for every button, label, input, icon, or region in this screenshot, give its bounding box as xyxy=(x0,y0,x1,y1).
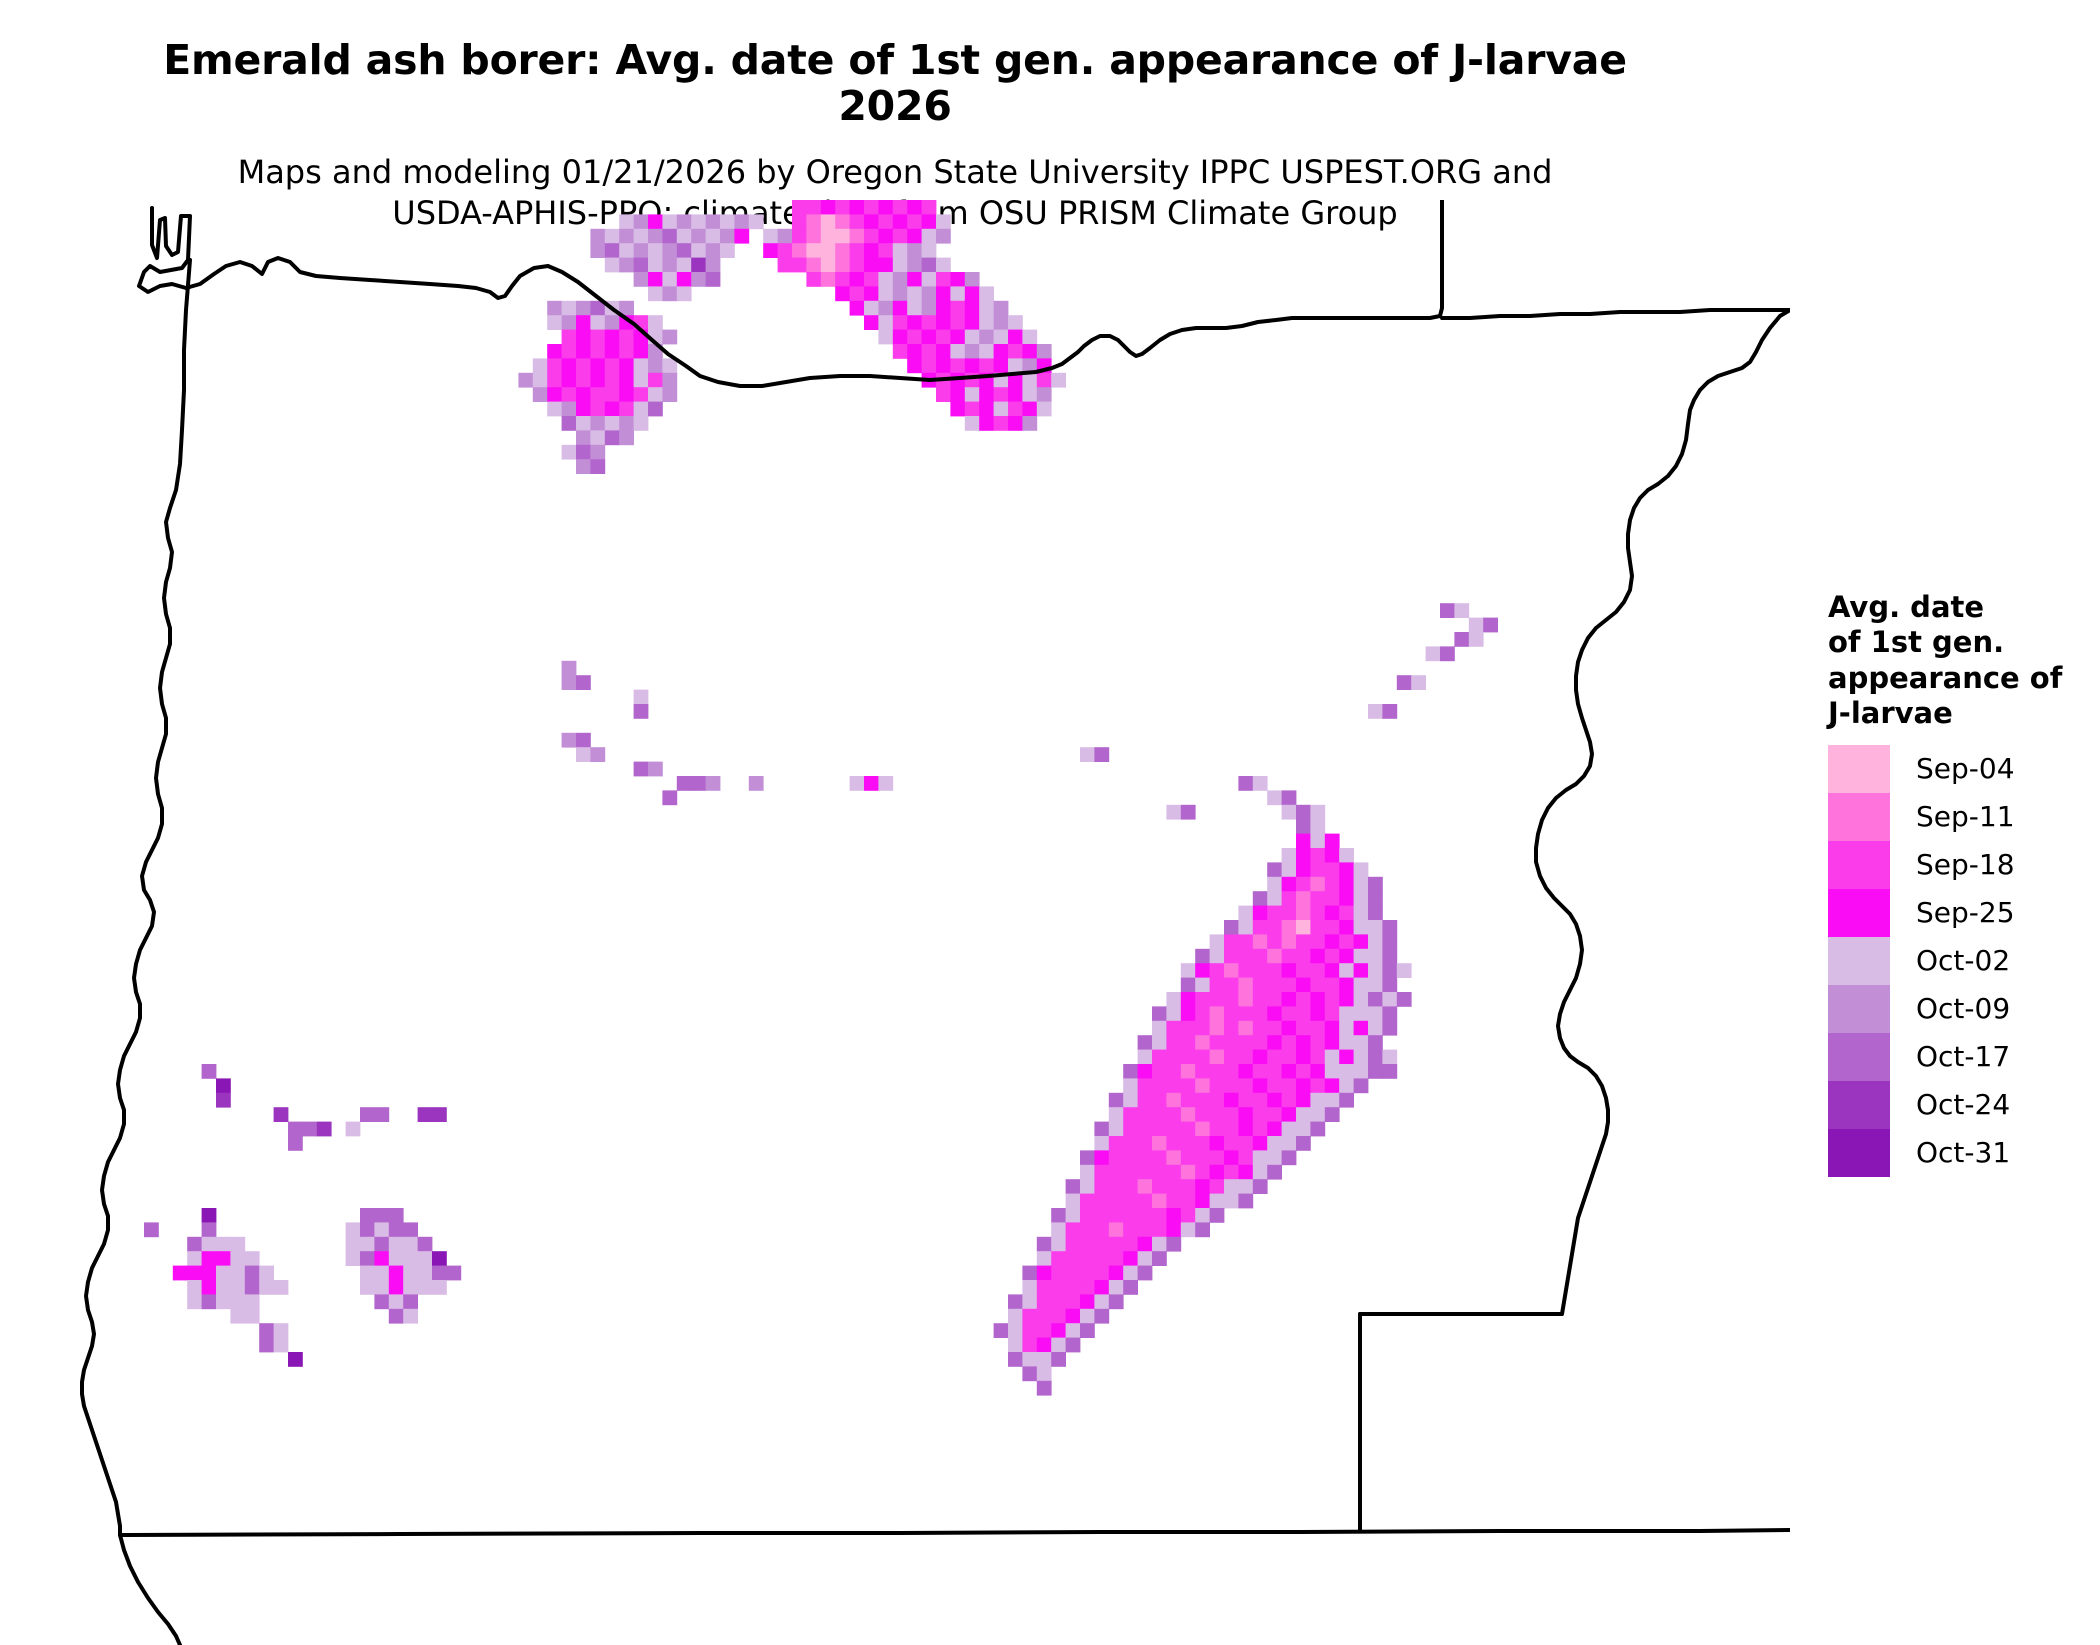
raster-cell xyxy=(1080,1323,1095,1338)
raster-cell xyxy=(1094,747,1109,762)
raster-cell xyxy=(1296,1050,1311,1065)
raster-cell xyxy=(922,286,937,301)
raster-cell xyxy=(1152,1093,1167,1108)
raster-cell xyxy=(1253,1136,1268,1151)
raster-cell xyxy=(1325,877,1340,892)
raster-cell xyxy=(1238,1165,1253,1180)
raster-cell xyxy=(1282,978,1297,993)
raster-cell xyxy=(216,1078,231,1093)
raster-cell xyxy=(1195,1107,1210,1122)
raster-cell xyxy=(677,258,692,273)
raster-cell xyxy=(1181,978,1196,993)
raster-cell xyxy=(1138,1251,1153,1266)
raster-cell xyxy=(1080,1222,1095,1237)
raster-cell xyxy=(1066,1179,1081,1194)
raster-cell xyxy=(562,445,577,460)
raster-cell xyxy=(1296,805,1311,820)
raster-cell xyxy=(950,315,965,330)
raster-cell xyxy=(1123,1064,1138,1079)
raster-cell xyxy=(850,229,865,244)
raster-cell xyxy=(533,387,548,402)
raster-cell xyxy=(1195,1150,1210,1165)
raster-cell xyxy=(1080,1237,1095,1252)
raster-cell xyxy=(1138,1122,1153,1137)
raster-cell xyxy=(1152,1251,1167,1266)
raster-cell xyxy=(1181,1093,1196,1108)
raster-cell xyxy=(1094,1122,1109,1137)
raster-cell xyxy=(691,214,706,229)
raster-cell xyxy=(1094,1294,1109,1309)
raster-cell xyxy=(245,1294,260,1309)
raster-cell xyxy=(1123,1208,1138,1223)
raster-cell xyxy=(763,243,778,258)
raster-cell xyxy=(619,344,634,359)
raster-cell xyxy=(864,286,879,301)
raster-cell xyxy=(1325,891,1340,906)
raster-cell xyxy=(1224,978,1239,993)
raster-cell xyxy=(835,258,850,273)
raster-cell xyxy=(965,286,980,301)
raster-cell xyxy=(1152,1122,1167,1137)
raster-cell xyxy=(1181,1122,1196,1137)
raster-cell xyxy=(1368,1021,1383,1036)
raster-cell xyxy=(1195,992,1210,1007)
raster-cell xyxy=(187,1251,202,1266)
raster-cell xyxy=(662,258,677,273)
raster-cell xyxy=(792,214,807,229)
raster-cell xyxy=(590,344,605,359)
raster-cell xyxy=(1166,1078,1181,1093)
raster-cell xyxy=(1354,1021,1369,1036)
raster-cell xyxy=(1282,877,1297,892)
raster-cell xyxy=(418,1237,433,1252)
map-canvas[interactable] xyxy=(0,200,1790,1645)
raster-cell xyxy=(1152,1179,1167,1194)
raster-cell xyxy=(950,330,965,345)
raster-cell xyxy=(562,661,577,676)
raster-cell xyxy=(1253,1165,1268,1180)
raster-cell xyxy=(1325,934,1340,949)
raster-cell xyxy=(173,1266,188,1281)
raster-cell xyxy=(1037,1381,1052,1396)
raster-cell xyxy=(835,214,850,229)
raster-cell xyxy=(403,1309,418,1324)
raster-cell xyxy=(648,315,663,330)
raster-cell xyxy=(994,358,1009,373)
raster-cell xyxy=(677,272,692,287)
raster-cell xyxy=(1325,906,1340,921)
raster-cell xyxy=(936,315,951,330)
raster-cell xyxy=(907,200,922,215)
raster-cell xyxy=(1296,1136,1311,1151)
raster-cell xyxy=(590,330,605,345)
raster-cell xyxy=(936,272,951,287)
raster-cell xyxy=(1382,920,1397,935)
raster-cell xyxy=(360,1222,375,1237)
raster-cell xyxy=(1282,1021,1297,1036)
raster-cell xyxy=(634,416,649,431)
raster-cell xyxy=(547,387,562,402)
raster-cell xyxy=(1181,1107,1196,1122)
raster-cell xyxy=(1310,934,1325,949)
raster-cell xyxy=(662,286,677,301)
raster-cell xyxy=(1166,1050,1181,1065)
raster-cell xyxy=(605,358,620,373)
raster-cell xyxy=(1253,891,1268,906)
raster-cell xyxy=(1166,1006,1181,1021)
raster-cell xyxy=(1109,1194,1124,1209)
raster-cell xyxy=(1008,1352,1023,1367)
raster-cell xyxy=(1238,978,1253,993)
raster-cell xyxy=(1267,1050,1282,1065)
raster-cell xyxy=(1080,1266,1095,1281)
raster-cell xyxy=(619,229,634,244)
raster-cell xyxy=(1238,1122,1253,1137)
raster-cell xyxy=(1166,1093,1181,1108)
raster-cell xyxy=(979,387,994,402)
raster-cell xyxy=(202,1280,217,1295)
legend-color-swatch xyxy=(1828,1081,1890,1129)
raster-cell xyxy=(1210,1050,1225,1065)
raster-cell xyxy=(893,344,908,359)
raster-cell xyxy=(1282,963,1297,978)
raster-cell xyxy=(1382,978,1397,993)
raster-cell xyxy=(1080,1179,1095,1194)
raster-cell xyxy=(1310,978,1325,993)
raster-cell xyxy=(619,402,634,417)
map-svg[interactable] xyxy=(0,200,1790,1645)
raster-cell xyxy=(878,776,893,791)
raster-cell xyxy=(1094,1251,1109,1266)
raster-cell xyxy=(1368,934,1383,949)
raster-cell xyxy=(1138,1050,1153,1065)
raster-cell xyxy=(1123,1222,1138,1237)
raster-cell xyxy=(1008,1323,1023,1338)
raster-cell xyxy=(1296,963,1311,978)
raster-cell xyxy=(1382,949,1397,964)
raster-cell xyxy=(1397,992,1412,1007)
raster-cell xyxy=(360,1107,375,1122)
raster-cell xyxy=(965,301,980,316)
raster-cell xyxy=(1195,963,1210,978)
raster-cell xyxy=(216,1237,231,1252)
raster-cell xyxy=(850,200,865,215)
raster-cell xyxy=(1152,1136,1167,1151)
washington-border-path xyxy=(1442,310,1790,318)
raster-cell xyxy=(1166,1064,1181,1079)
raster-cell xyxy=(1238,906,1253,921)
raster-cell xyxy=(202,1237,217,1252)
raster-cell xyxy=(1195,1050,1210,1065)
raster-cell xyxy=(274,1107,289,1122)
raster-cell xyxy=(792,229,807,244)
legend-entry: Sep-11 xyxy=(1790,793,2100,841)
raster-cell xyxy=(648,214,663,229)
raster-cell xyxy=(1138,1107,1153,1122)
raster-cell xyxy=(1051,1237,1066,1252)
raster-cell xyxy=(936,344,951,359)
raster-cell xyxy=(1138,1078,1153,1093)
raster-cell xyxy=(619,373,634,388)
raster-cell xyxy=(1051,1338,1066,1353)
raster-cell xyxy=(389,1208,404,1223)
raster-cell xyxy=(792,200,807,215)
raster-cell xyxy=(907,286,922,301)
raster-cell xyxy=(576,430,591,445)
legend-label: Sep-04 xyxy=(1890,745,2015,793)
raster-cell xyxy=(691,776,706,791)
raster-cell xyxy=(907,358,922,373)
raster-cell xyxy=(835,243,850,258)
raster-cell xyxy=(677,776,692,791)
raster-cell xyxy=(1296,1006,1311,1021)
raster-cell xyxy=(1339,1078,1354,1093)
raster-cell xyxy=(734,229,749,244)
raster-cell xyxy=(1267,877,1282,892)
raster-cell xyxy=(936,330,951,345)
raster-cell xyxy=(907,214,922,229)
raster-cell xyxy=(1296,906,1311,921)
raster-cell xyxy=(202,1294,217,1309)
raster-cell xyxy=(360,1280,375,1295)
raster-cell xyxy=(1022,387,1037,402)
raster-cell xyxy=(1253,1050,1268,1065)
raster-cell xyxy=(1253,1006,1268,1021)
page-title: Emerald ash borer: Avg. date of 1st gen.… xyxy=(0,38,1790,130)
raster-cell xyxy=(965,402,980,417)
raster-cell xyxy=(1152,1194,1167,1209)
raster-cell xyxy=(878,258,893,273)
raster-cell xyxy=(230,1266,245,1281)
raster-cell xyxy=(1138,1222,1153,1237)
raster-cell xyxy=(1152,1078,1167,1093)
raster-cell xyxy=(619,416,634,431)
raster-cell xyxy=(576,747,591,762)
raster-cell xyxy=(432,1107,447,1122)
raster-cell xyxy=(850,243,865,258)
raster-cell xyxy=(1253,1093,1268,1108)
raster-cell xyxy=(1354,963,1369,978)
raster-cell xyxy=(950,387,965,402)
raster-cell xyxy=(590,373,605,388)
raster-cell xyxy=(1296,819,1311,834)
legend-label: Sep-11 xyxy=(1890,793,2015,841)
raster-cell xyxy=(576,330,591,345)
raster-cell xyxy=(1411,675,1426,690)
raster-cell xyxy=(1238,1078,1253,1093)
raster-cell xyxy=(1066,1309,1081,1324)
raster-cell xyxy=(619,430,634,445)
raster-cell xyxy=(634,387,649,402)
raster-cell xyxy=(720,229,735,244)
raster-cell xyxy=(576,373,591,388)
raster-cell xyxy=(1123,1136,1138,1151)
raster-cell xyxy=(878,330,893,345)
raster-cell xyxy=(1238,1064,1253,1079)
raster-cell xyxy=(662,387,677,402)
raster-cell xyxy=(965,358,980,373)
raster-cell xyxy=(1483,618,1498,633)
raster-cell xyxy=(1195,1165,1210,1180)
raster-cell xyxy=(1022,1352,1037,1367)
raster-cell xyxy=(1282,1064,1297,1079)
legend-entry: Sep-18 xyxy=(1790,841,2100,889)
raster-cell xyxy=(1181,963,1196,978)
raster-cell xyxy=(994,301,1009,316)
raster-cell xyxy=(259,1280,274,1295)
raster-cell xyxy=(648,387,663,402)
raster-cell xyxy=(979,402,994,417)
legend-color-swatch xyxy=(1828,937,1890,985)
raster-cell xyxy=(1166,1107,1181,1122)
raster-cell xyxy=(590,459,605,474)
raster-cell xyxy=(677,243,692,258)
raster-cell xyxy=(1267,1035,1282,1050)
raster-cell xyxy=(418,1266,433,1281)
legend: Avg. date of 1st gen. appearance of J-la… xyxy=(1790,590,2100,1177)
raster-cell xyxy=(677,286,692,301)
raster-cell xyxy=(1051,1280,1066,1295)
raster-cell xyxy=(1195,1194,1210,1209)
raster-cell xyxy=(1267,1064,1282,1079)
raster-cell xyxy=(1310,906,1325,921)
raster-cell xyxy=(634,272,649,287)
raster-cell xyxy=(1382,934,1397,949)
raster-cell xyxy=(1382,992,1397,1007)
raster-cell xyxy=(1051,373,1066,388)
raster-cell xyxy=(1325,1035,1340,1050)
raster-cell xyxy=(1210,1078,1225,1093)
raster-cell xyxy=(1094,1194,1109,1209)
raster-cell xyxy=(1181,1021,1196,1036)
raster-cell xyxy=(850,776,865,791)
raster-cell xyxy=(835,272,850,287)
raster-cell xyxy=(878,229,893,244)
pacific-coast-path xyxy=(82,260,190,1535)
raster-cell xyxy=(1339,920,1354,935)
raster-cell xyxy=(1325,1093,1340,1108)
raster-cell xyxy=(864,200,879,215)
raster-cell xyxy=(1354,1064,1369,1079)
raster-cell xyxy=(1094,1165,1109,1180)
raster-cell xyxy=(576,416,591,431)
raster-cell xyxy=(864,301,879,316)
raster-cell xyxy=(576,459,591,474)
lower-coast-path xyxy=(120,1535,180,1645)
raster-cell xyxy=(634,214,649,229)
raster-cell xyxy=(1253,776,1268,791)
raster-cell xyxy=(562,402,577,417)
raster-cell xyxy=(648,373,663,388)
raster-cell xyxy=(907,272,922,287)
raster-cell xyxy=(893,315,908,330)
raster-cell xyxy=(1382,1006,1397,1021)
raster-cell xyxy=(1325,1107,1340,1122)
raster-cell xyxy=(547,358,562,373)
raster-cell xyxy=(1267,1006,1282,1021)
raster-cell xyxy=(605,330,620,345)
raster-cell xyxy=(1368,978,1383,993)
raster-cell xyxy=(1296,834,1311,849)
raster-cell xyxy=(317,1122,332,1137)
raster-cell xyxy=(1397,675,1412,690)
raster-cell xyxy=(1037,1251,1052,1266)
raster-cell xyxy=(360,1237,375,1252)
raster-cell xyxy=(389,1309,404,1324)
raster-cell xyxy=(547,344,562,359)
raster-cell xyxy=(1310,891,1325,906)
raster-cell xyxy=(1037,1309,1052,1324)
raster-cell xyxy=(720,214,735,229)
map-page: Emerald ash borer: Avg. date of 1st gen.… xyxy=(0,0,2100,1645)
raster-cell xyxy=(979,416,994,431)
raster-cell xyxy=(1368,920,1383,935)
raster-cell xyxy=(936,286,951,301)
raster-cell xyxy=(1123,1150,1138,1165)
raster-cell xyxy=(1022,416,1037,431)
raster-cell xyxy=(1310,1006,1325,1021)
legend-color-swatch xyxy=(1828,793,1890,841)
raster-cell xyxy=(619,214,634,229)
raster-cell xyxy=(893,272,908,287)
raster-cell xyxy=(432,1266,447,1281)
raster-cell xyxy=(1022,1280,1037,1295)
raster-cell xyxy=(1195,1136,1210,1151)
raster-cell xyxy=(1181,1222,1196,1237)
raster-cell xyxy=(1253,1035,1268,1050)
raster-cell xyxy=(1094,1179,1109,1194)
raster-cell xyxy=(662,373,677,388)
raster-cell xyxy=(346,1251,361,1266)
raster-cell xyxy=(706,776,721,791)
raster-cell xyxy=(1325,1050,1340,1065)
raster-cell xyxy=(1210,934,1225,949)
raster-cell xyxy=(1310,963,1325,978)
raster-cell xyxy=(1066,1323,1081,1338)
raster-cell xyxy=(878,315,893,330)
raster-cell xyxy=(864,315,879,330)
raster-cell xyxy=(1094,1222,1109,1237)
raster-cell xyxy=(1382,1064,1397,1079)
raster-cell xyxy=(1195,1122,1210,1137)
raster-cell xyxy=(1051,1251,1066,1266)
raster-cell xyxy=(706,243,721,258)
raster-cell xyxy=(1022,330,1037,345)
raster-cell xyxy=(893,214,908,229)
raster-cell xyxy=(1008,344,1023,359)
legend-label: Oct-31 xyxy=(1890,1129,2010,1177)
raster-cell xyxy=(1166,1165,1181,1180)
raster-cell xyxy=(950,344,965,359)
raster-cell xyxy=(749,776,764,791)
raster-cell xyxy=(216,1280,231,1295)
raster-cell xyxy=(1051,1323,1066,1338)
raster-cell xyxy=(562,358,577,373)
raster-cell xyxy=(1354,1050,1369,1065)
raster-cell xyxy=(691,229,706,244)
raster-cell xyxy=(648,272,663,287)
raster-cell xyxy=(403,1294,418,1309)
raster-cell xyxy=(187,1294,202,1309)
raster-cell xyxy=(1267,992,1282,1007)
raster-cell xyxy=(691,243,706,258)
raster-cell xyxy=(1224,1050,1239,1065)
raster-cell xyxy=(1296,1093,1311,1108)
raster-cell xyxy=(1224,963,1239,978)
legend-entry: Oct-09 xyxy=(1790,985,2100,1033)
raster-cell xyxy=(979,344,994,359)
raster-cell xyxy=(1094,1150,1109,1165)
